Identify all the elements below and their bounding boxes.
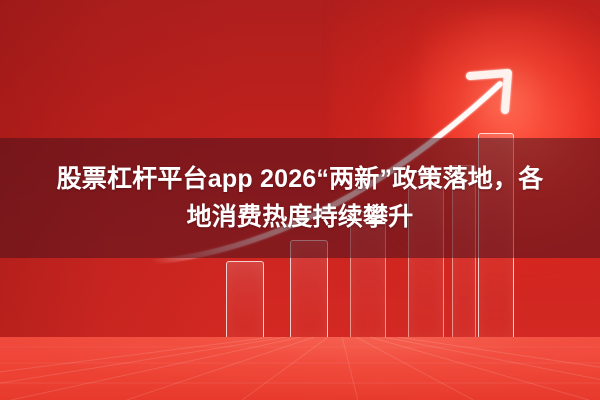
grid-line: [356, 337, 473, 400]
title-line-2: 地消费热度持续攀升: [187, 199, 414, 235]
title-line-1: 股票杠杆平台app 2026“两新”政策落地，各: [57, 161, 544, 197]
chart-bar: [226, 261, 264, 337]
grid-line: [398, 337, 600, 400]
perspective-floor: [0, 337, 600, 400]
page-title: 股票杠杆平台app 2026“两新”政策落地，各 地消费热度持续攀升: [0, 138, 600, 258]
floor-grid-lines: [0, 337, 600, 400]
banner-image: 股票杠杆平台app 2026“两新”政策落地，各 地消费热度持续攀升: [0, 0, 600, 400]
grid-line: [0, 337, 287, 400]
grid-line: [384, 337, 600, 400]
grid-line: [0, 337, 273, 400]
grid-line: [370, 337, 589, 400]
grid-line: [342, 337, 358, 400]
